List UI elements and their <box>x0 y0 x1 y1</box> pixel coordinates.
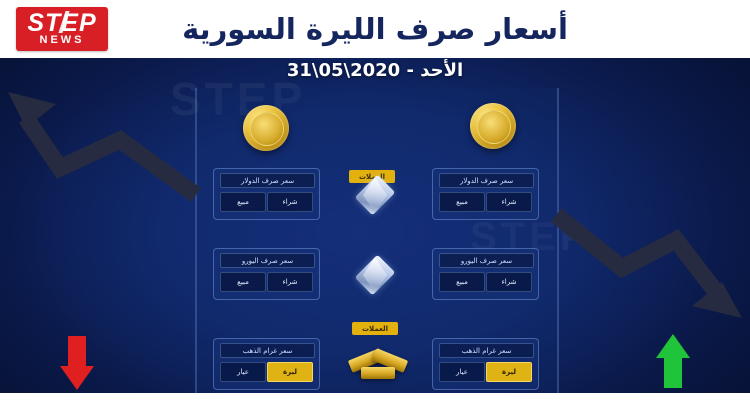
page-title: أسعار صرف الليرة السورية <box>0 0 750 58</box>
step-news-logo[interactable]: STEP NEWS <box>16 7 108 51</box>
footer-strip <box>0 393 750 400</box>
news-graphic-canvas: STEP STEP العملات سعر صرف الدولار شراء م… <box>0 0 750 400</box>
date-label: الأحد - 2020\05\31 <box>0 60 750 81</box>
logo-secondary-text: NEWS <box>16 34 108 46</box>
